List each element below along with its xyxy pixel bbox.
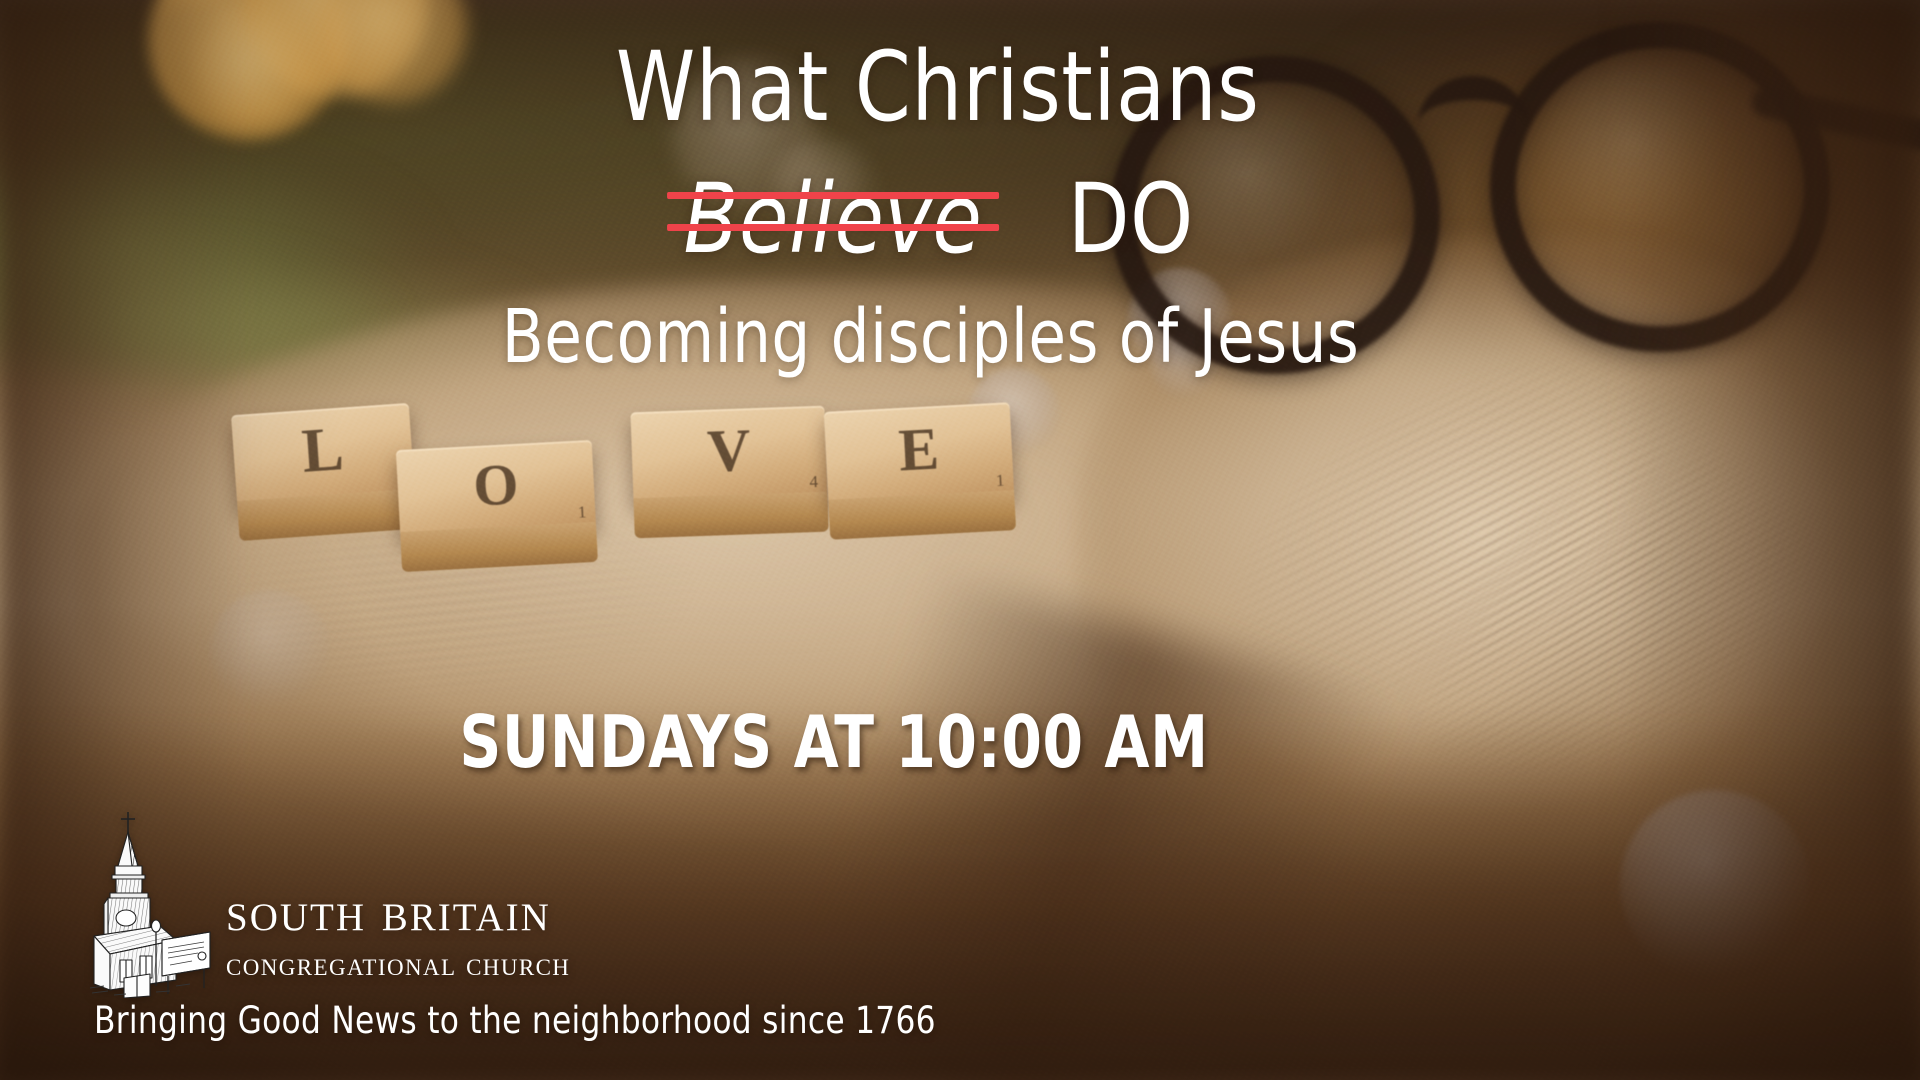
church-name-secondary: Congregational Church	[226, 949, 570, 982]
church-name-primary: South Britain	[226, 884, 570, 939]
church-steeple-icon	[64, 808, 214, 998]
church-wordmark: South Britain Congregational Church	[226, 884, 570, 982]
struck-word: Believe	[682, 168, 985, 272]
headline-line-2: Believe DO	[45, 168, 1831, 272]
headline-line-1: What Christians	[45, 36, 1831, 140]
replacement-word: DO	[1068, 163, 1194, 275]
strikethrough-bar-upper	[667, 192, 999, 199]
slide-content: What Christians Believe DO Becoming disc…	[0, 0, 1920, 1080]
sermon-series-graphic: L 1 O 1 V 4 E 1 What C	[0, 0, 1920, 1080]
subtitle: Becoming disciples of Jesus	[47, 294, 1813, 380]
struck-word-text: Believe	[683, 163, 982, 275]
church-tagline: Bringing Good News to the neighborhood s…	[94, 999, 936, 1042]
church-logo-lockup: South Britain Congregational Church Brin…	[48, 810, 868, 1060]
service-time: SUNDAYS AT 10:00 AM	[0, 700, 1698, 784]
strikethrough-bar-lower	[667, 224, 999, 231]
